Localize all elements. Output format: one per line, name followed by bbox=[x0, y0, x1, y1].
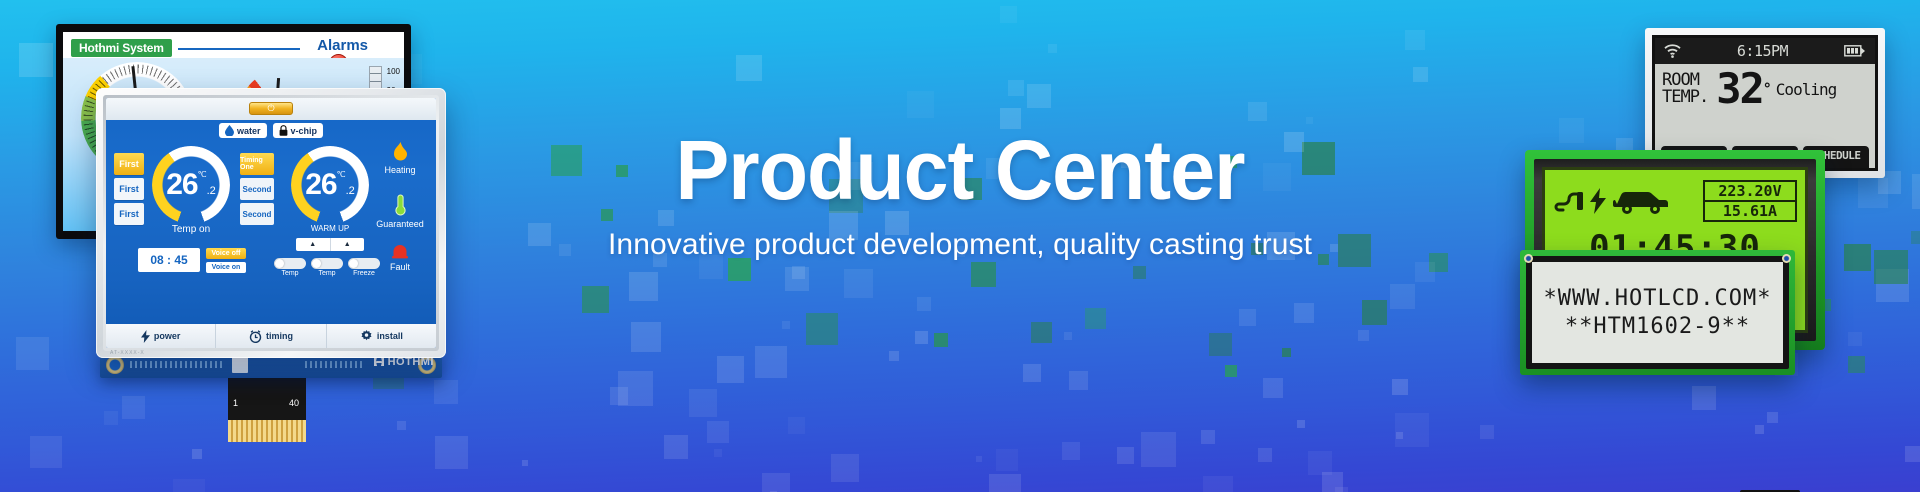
mosaic-square bbox=[1405, 30, 1425, 50]
mosaic-square bbox=[1069, 371, 1088, 390]
character-lcd-frame: *WWW.HOTLCD.COM* **HTM1602-9** bbox=[1526, 256, 1789, 369]
thermostat-room-label: ROOM TEMP. bbox=[1662, 72, 1708, 106]
mosaic-square bbox=[1117, 447, 1134, 464]
mosaic-square bbox=[907, 91, 934, 118]
mosaic-square bbox=[173, 479, 205, 492]
mosaic-square bbox=[971, 262, 996, 287]
mosaic-square bbox=[707, 421, 729, 443]
mosaic-square bbox=[785, 267, 809, 291]
mosaic-square bbox=[736, 55, 762, 81]
mosaic-square bbox=[1031, 322, 1052, 343]
mosaic-square bbox=[755, 346, 787, 378]
mosaic-square bbox=[976, 456, 982, 462]
mosaic-square bbox=[192, 449, 202, 459]
hmi-model-code: AT-XXXX-X bbox=[110, 350, 145, 356]
mosaic-square bbox=[1209, 333, 1232, 356]
mosaic-square bbox=[16, 337, 49, 370]
mosaic-square bbox=[714, 449, 722, 457]
ribbon-pin-40: 40 bbox=[289, 398, 299, 408]
mosaic-square bbox=[1008, 80, 1024, 96]
mosaic-square bbox=[1133, 266, 1146, 279]
thermostat-temperature: 32° bbox=[1716, 69, 1770, 109]
character-lcd-module: *WWW.HOTLCD.COM* **HTM1602-9** bbox=[1520, 250, 1795, 375]
mosaic-square bbox=[19, 43, 53, 77]
mosaic-square bbox=[1767, 412, 1778, 423]
mosaic-square bbox=[435, 436, 468, 469]
mosaic-square bbox=[1141, 432, 1176, 467]
mosaic-square bbox=[582, 286, 609, 313]
mosaic-square bbox=[831, 454, 859, 482]
mosaic-square bbox=[1000, 6, 1017, 23]
wifi-icon bbox=[1664, 44, 1681, 58]
solder-pads-right bbox=[305, 361, 365, 368]
mosaic-square bbox=[104, 411, 118, 425]
mosaic-square bbox=[792, 266, 805, 279]
mosaic-square bbox=[1848, 356, 1865, 373]
hmi-back-header: Hothmi System Alarms bbox=[63, 37, 404, 57]
banner-text-block: Product Center Innovative product develo… bbox=[0, 128, 1920, 262]
mosaic-square bbox=[1322, 472, 1343, 492]
ribbon-contacts bbox=[228, 420, 306, 442]
mosaic-square bbox=[397, 421, 406, 430]
mosaic-square bbox=[618, 371, 653, 406]
mosaic-square bbox=[30, 436, 62, 468]
toggle-label-temp-2: Temp bbox=[311, 270, 343, 277]
mosaic-square bbox=[1282, 348, 1291, 357]
ribbon-pin-1: 1 bbox=[233, 398, 238, 408]
status-fault-label: Fault bbox=[370, 262, 430, 272]
mosaic-square bbox=[1395, 413, 1429, 447]
thermostat-time: 6:15PM bbox=[1737, 42, 1788, 60]
mosaic-square bbox=[1064, 332, 1072, 340]
mosaic-square bbox=[996, 449, 1018, 471]
mosaic-square bbox=[1306, 117, 1313, 124]
toggle-label-temp-1: Temp bbox=[274, 270, 306, 277]
room-label-line2: TEMP. bbox=[1662, 89, 1708, 106]
thermostat-mode: Cooling bbox=[1776, 80, 1836, 99]
bottom-power-label: power bbox=[154, 331, 181, 341]
mosaic-square bbox=[844, 269, 873, 298]
mosaic-square bbox=[1335, 487, 1348, 492]
hothmi-system-tag: Hothmi System bbox=[71, 39, 172, 57]
ribbon-connector: 1 40 bbox=[228, 376, 306, 422]
mosaic-square bbox=[1062, 442, 1080, 460]
character-lcd-screen: *WWW.HOTLCD.COM* **HTM1602-9** bbox=[1532, 262, 1783, 363]
bottom-power-button[interactable]: power bbox=[106, 324, 215, 348]
power-icon[interactable]: ⏻ bbox=[249, 102, 293, 115]
mosaic-square bbox=[1396, 432, 1403, 439]
bolt-icon bbox=[141, 330, 150, 343]
mosaic-square bbox=[1692, 386, 1716, 410]
mosaic-square bbox=[762, 473, 790, 492]
mosaic-square bbox=[1413, 67, 1428, 82]
mosaic-square bbox=[915, 331, 928, 344]
voice-on-button[interactable]: Voice on bbox=[206, 262, 246, 273]
mosaic-square bbox=[1308, 451, 1332, 475]
gear-icon bbox=[360, 330, 373, 343]
mosaic-square bbox=[989, 474, 1021, 492]
mosaic-square bbox=[631, 322, 661, 352]
lcd-line-2: **HTM1602-9** bbox=[1565, 313, 1750, 341]
battery-icon bbox=[1844, 45, 1866, 57]
mosaic-square bbox=[1258, 448, 1272, 462]
alarm-clock-icon bbox=[249, 330, 262, 343]
mosaic-square bbox=[782, 321, 790, 329]
mosaic-square bbox=[434, 380, 458, 404]
mosaic-square bbox=[1201, 430, 1215, 444]
mosaic-square bbox=[1048, 44, 1057, 53]
bottom-install-label: install bbox=[377, 331, 403, 341]
bottom-timing-label: timing bbox=[266, 331, 293, 341]
thermostat-statusbar: 6:15PM bbox=[1655, 38, 1875, 64]
mosaic-square bbox=[1294, 303, 1314, 323]
mosaic-square bbox=[1415, 262, 1435, 282]
lcd-line-1: *WWW.HOTLCD.COM* bbox=[1544, 285, 1772, 313]
mosaic-square bbox=[1358, 330, 1369, 341]
mosaic-square bbox=[1390, 284, 1415, 309]
page-subtitle: Innovative product development, quality … bbox=[0, 228, 1920, 262]
mount-hole-left bbox=[106, 356, 124, 374]
mosaic-square bbox=[1755, 425, 1764, 434]
alarms-label: Alarms bbox=[317, 37, 368, 54]
hmi-topbar: ⏻ bbox=[106, 98, 436, 120]
mosaic-square bbox=[610, 387, 628, 405]
bottom-install-button[interactable]: install bbox=[326, 324, 436, 348]
mosaic-square bbox=[889, 351, 899, 361]
mosaic-square bbox=[1085, 308, 1106, 329]
bottom-timing-button[interactable]: timing bbox=[215, 324, 325, 348]
mosaic-square bbox=[1203, 476, 1233, 492]
mosaic-square bbox=[1239, 309, 1256, 326]
mosaic-square bbox=[122, 396, 145, 419]
header-rule bbox=[178, 48, 300, 50]
mosaic-square bbox=[1362, 300, 1387, 325]
solder-pads-left bbox=[130, 361, 225, 368]
thermostat-temp-value: 32 bbox=[1716, 64, 1763, 113]
mosaic-square bbox=[1392, 379, 1408, 395]
mosaic-square bbox=[629, 272, 658, 301]
mosaic-square bbox=[717, 356, 744, 383]
degree-symbol: ° bbox=[1763, 80, 1770, 98]
mosaic-square bbox=[689, 389, 717, 417]
page-title: Product Center bbox=[38, 128, 1881, 214]
mosaic-square bbox=[1023, 364, 1041, 382]
mosaic-square bbox=[806, 313, 838, 345]
mosaic-square bbox=[1876, 269, 1909, 302]
mosaic-square bbox=[1263, 378, 1283, 398]
mosaic-square bbox=[1027, 84, 1051, 108]
mosaic-square bbox=[934, 333, 948, 347]
hmi-bottom-bar: power timing bbox=[106, 324, 436, 348]
pin-header bbox=[232, 357, 248, 373]
mosaic-square bbox=[1480, 425, 1494, 439]
mosaic-square bbox=[1848, 332, 1862, 346]
mosaic-square bbox=[1225, 365, 1237, 377]
mosaic-square bbox=[1297, 420, 1305, 428]
mosaic-square bbox=[522, 460, 528, 466]
mosaic-square bbox=[664, 435, 688, 459]
mosaic-square bbox=[1248, 102, 1267, 121]
mosaic-square bbox=[788, 417, 805, 434]
mosaic-square bbox=[917, 297, 931, 311]
product-center-banner: Hothmi System Alarms 100 bbox=[0, 0, 1920, 492]
mosaic-square bbox=[1905, 446, 1920, 462]
thermostat-readout: ROOM TEMP. 32° Cooling bbox=[1655, 64, 1875, 109]
